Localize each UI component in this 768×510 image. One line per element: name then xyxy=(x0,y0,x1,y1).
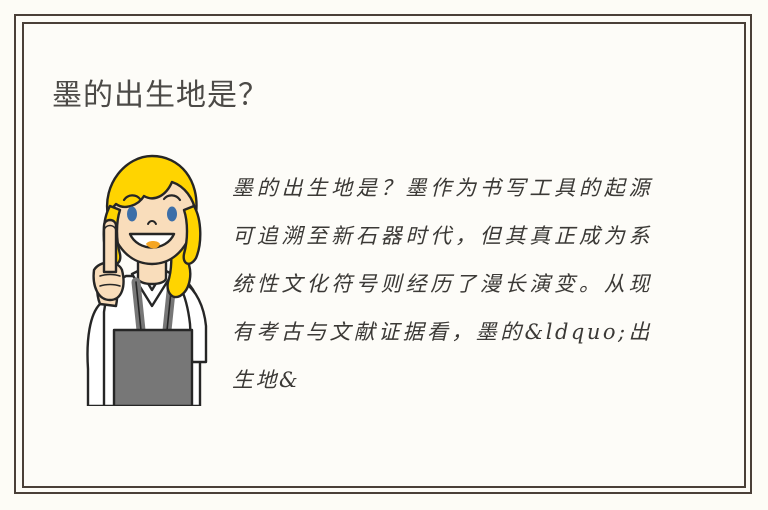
article-body: 墨的出生地是？墨作为书写工具的起源可追溯至新石器时代，但其真正成为系统性文化符号… xyxy=(232,164,652,404)
body-row: 墨的出生地是？墨作为书写工具的起源可追溯至新石器时代，但其真正成为系统性文化符号… xyxy=(24,144,744,404)
document-page: 墨的出生地是？ xyxy=(0,0,768,510)
page-content: 墨的出生地是？ xyxy=(24,24,744,486)
cartoon-girl-pointing-up-illustration xyxy=(80,154,220,406)
page-title: 墨的出生地是？ xyxy=(52,70,269,114)
